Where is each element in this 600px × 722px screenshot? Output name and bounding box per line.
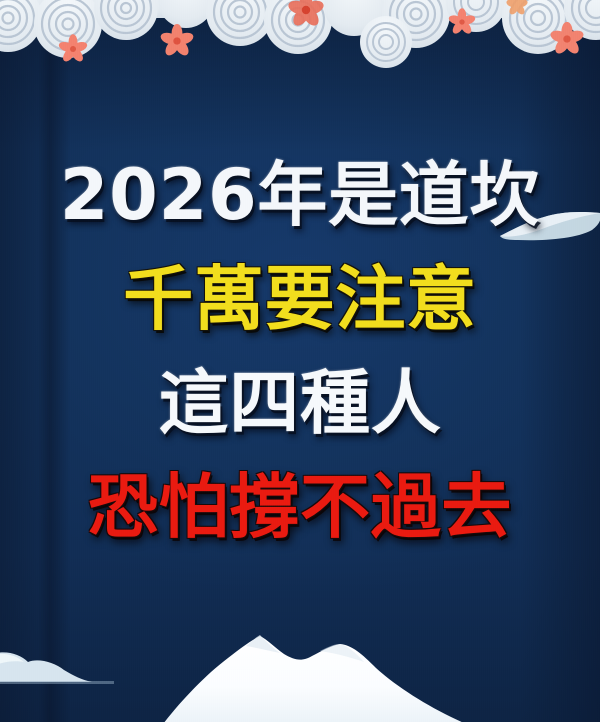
cherry-blossom-icon — [160, 24, 194, 58]
cherry-blossom-icon — [550, 22, 584, 56]
cherry-blossom-icon — [506, 0, 528, 16]
cherry-blossom-icon — [288, 0, 324, 28]
cherry-blossom-icon — [58, 34, 88, 64]
headline-line-1: 2026年是道坎 — [60, 160, 540, 230]
cloud-bottom-left-icon — [0, 628, 114, 690]
headline-line-3: 這四種人 — [159, 368, 442, 438]
poster-canvas: 2026年是道坎 千萬要注意 這四種人 恐怕撐不過去 — [0, 0, 600, 722]
headline-line-4: 恐怕撐不過去 — [88, 472, 512, 542]
snow-mountain-icon — [150, 618, 530, 722]
headline-line-2: 千萬要注意 — [123, 264, 477, 334]
headline-block: 2026年是道坎 千萬要注意 這四種人 恐怕撐不過去 — [0, 160, 600, 542]
cherry-blossom-icon — [448, 8, 476, 36]
